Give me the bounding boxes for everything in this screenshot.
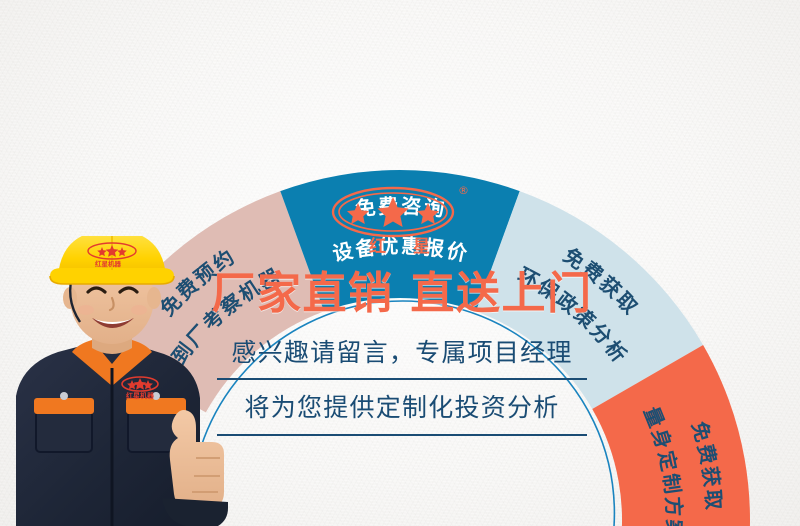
worker-photo: 红星机器 bbox=[0, 236, 230, 526]
worker-thumbs-up bbox=[162, 410, 228, 526]
logo-brand-text-left: 红 bbox=[369, 236, 386, 257]
star-center bbox=[377, 197, 408, 227]
page-title: 厂家直销 直送上门 bbox=[196, 270, 608, 318]
svg-text:红星机器: 红星机器 bbox=[126, 391, 155, 400]
svg-text:红星机器: 红星机器 bbox=[95, 259, 122, 268]
subline-2: 将为您提供定制化投资分析 bbox=[217, 389, 587, 436]
logo-registered-mark: ® bbox=[458, 184, 469, 197]
logo-brand-text-right: 星 bbox=[413, 237, 430, 257]
star-right bbox=[417, 203, 439, 224]
segment-custom-label: 获 bbox=[698, 465, 725, 489]
segment-custom-label: 制 bbox=[658, 472, 684, 495]
subline-1: 感兴趣请留言，专属项目经理 bbox=[217, 334, 587, 381]
star-left bbox=[347, 203, 369, 224]
logo-stars bbox=[347, 197, 439, 227]
worker-helmet: 红星机器 bbox=[50, 236, 174, 284]
segment-custom-label: 取 bbox=[701, 489, 726, 511]
worker-uniform: 红星机器 bbox=[16, 340, 200, 526]
segment-custom-label: 方 bbox=[661, 496, 686, 518]
promo-banner: 免费预约到厂考察机器免费咨询设备优惠报价免费获取环保政策分析免费获取量身定制方案… bbox=[0, 0, 800, 526]
brand-logo: ® 红 星 bbox=[327, 182, 477, 260]
center-content: ® 红 星 厂家直销 直送上门 感兴趣请留言，专属项目经理 将为您提供定制化投资… bbox=[196, 182, 608, 436]
segment-custom-label: 案 bbox=[661, 518, 686, 526]
